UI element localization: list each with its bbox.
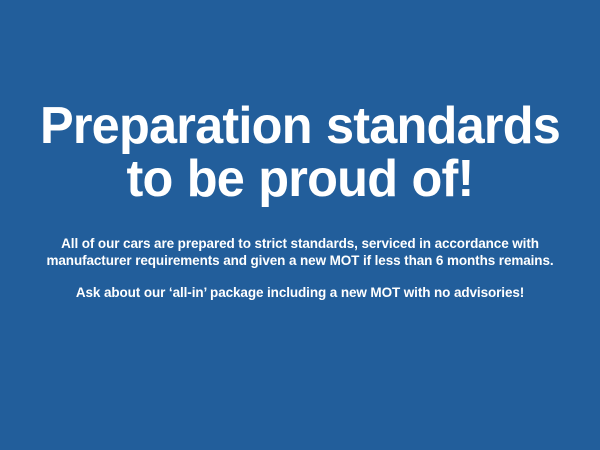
body-paragraph-all-in-package: Ask about our ‘all-in’ package including… [30, 285, 570, 302]
headline-line-1: Preparation standards [9, 100, 591, 153]
headline: Preparation standards to be proud of! [0, 100, 600, 206]
body-paragraph-preparation: All of our cars are prepared to strict s… [36, 236, 564, 269]
promotional-banner: Preparation standards to be proud of! Al… [0, 0, 600, 450]
headline-line-2: to be proud of! [9, 153, 591, 206]
banner-content: Preparation standards to be proud of! Al… [0, 0, 600, 302]
body-text-block: All of our cars are prepared to strict s… [30, 236, 570, 302]
